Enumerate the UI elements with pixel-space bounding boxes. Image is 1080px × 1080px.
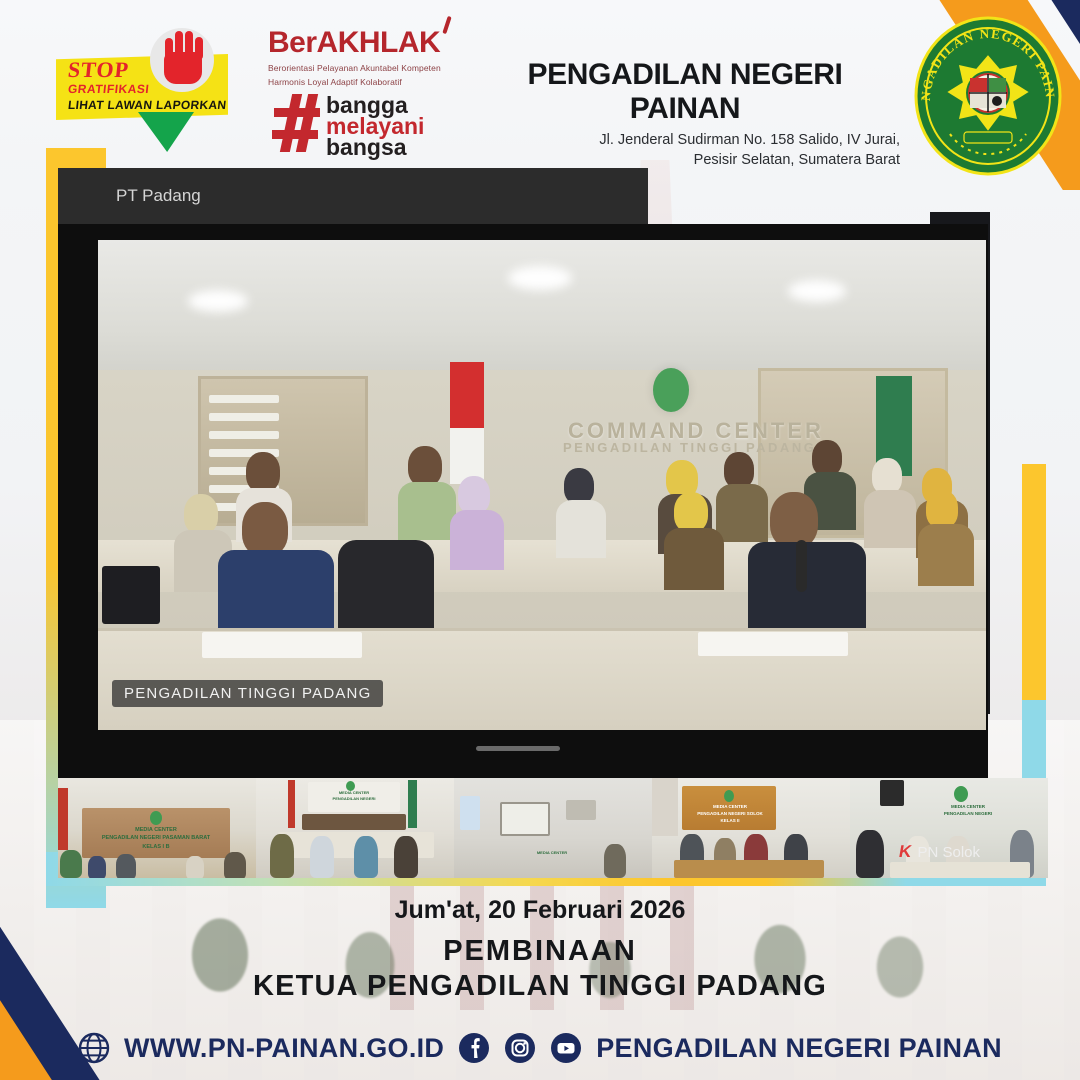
thumbnail-tile[interactable]: MEDIA CENTER [454, 778, 652, 878]
participant-thumbnail-strip: MEDIA CENTER PENGADILAN NEGERI PASAMAN B… [58, 778, 1048, 878]
footer-bar: WWW.PN-PAINAN.GO.ID PENGADILAN NEGERI PA… [0, 1016, 1080, 1080]
event-title-line-2: KETUA PENGADILAN TINGGI PADANG [0, 970, 1080, 1003]
court-seal-logo: PENGADILAN NEGERI PAINAN [908, 16, 1068, 176]
stop-word: STOP [67, 57, 131, 83]
video-scroll-handle[interactable] [476, 746, 560, 751]
berakhlak-subtitle-1: Berorientasi Pelayanan Akuntabel Kompete… [268, 62, 448, 74]
event-title-line-1: PEMBINAAN [0, 935, 1080, 968]
wall-seal-icon [653, 368, 689, 412]
website-url[interactable]: WWW.PN-PAINAN.GO.ID [124, 1033, 444, 1064]
berakhlak-logo: BerAKHLAK Berorientasi Pelayanan Akuntab… [268, 26, 448, 89]
thumb-label-line-1: MEDIA CENTER [697, 804, 763, 811]
thumb-label-line-2: PENGADILAN NEGERI [944, 811, 992, 818]
social-account-name: PENGADILAN NEGERI PAINAN [596, 1033, 1002, 1064]
event-date: Jum'at, 20 Februari 2026 [0, 896, 1080, 925]
thumb-label-line-2: PENGADILAN NEGERI [333, 796, 376, 802]
stop-subtitle-2: LIHAT LAWAN LAPORKAN [67, 98, 227, 112]
solok-participant-tag: K PN Solok [899, 842, 980, 862]
thumb-label-line-3: KELAS I B [102, 843, 210, 851]
stop-subtitle-1: GRATIFIKASI [67, 82, 150, 96]
bmb-line-3: bangsa [326, 134, 407, 161]
thumb-label-line-2: PENGADILAN NEGERI SOLOK [697, 811, 763, 818]
thumb-label-line-1: MEDIA CENTER [944, 804, 992, 811]
court-address-line-1: Jl. Jenderal Sudirman No. 158 Salido, IV… [470, 131, 900, 151]
indonesian-flag [450, 362, 484, 432]
berakhlak-title-text: BerAKHLAK [268, 26, 440, 59]
thumb-label-line-1: MEDIA CENTER [537, 850, 567, 856]
video-conference-window: PT Padang COMMAND CENTER PENGADILAN TING… [58, 168, 988, 868]
bangga-melayani-bangsa-logo: bangga melayani bangsa [272, 92, 442, 156]
event-caption: Jum'at, 20 Februari 2026 PEMBINAAN KETUA… [0, 896, 1080, 1003]
hashtag-icon [272, 94, 322, 152]
thumbnail-tile[interactable]: MEDIA CENTER PENGADILAN NEGERI [850, 778, 1048, 878]
conference-window-title: PT Padang [116, 186, 201, 206]
participant-name-badge: PENGADILAN TINGGI PADANG [112, 680, 383, 707]
youtube-icon[interactable] [550, 1032, 582, 1064]
page-title: PENGADILAN NEGERI PAINAN [470, 58, 900, 126]
thumb-label-line-2: PENGADILAN NEGERI PASAMAN BARAT [102, 834, 210, 842]
stop-hand-icon [160, 30, 206, 86]
solok-tag-label: PN Solok [917, 844, 980, 861]
berakhlak-subtitle-2: Harmonis Loyal Adaptif Kolaboratif [268, 76, 448, 88]
facebook-icon[interactable] [458, 1032, 490, 1064]
main-video-tile[interactable]: COMMAND CENTER PENGADILAN TINGGI PADANG [98, 240, 986, 730]
thumb-label-line-3: KELAS II [697, 818, 763, 825]
thumbnail-tile[interactable]: MEDIA CENTER PENGADILAN NEGERI [256, 778, 454, 878]
thumbnail-tile[interactable]: MEDIA CENTER PENGADILAN NEGERI SOLOK KEL… [652, 778, 850, 878]
thumbnail-tile[interactable]: MEDIA CENTER PENGADILAN NEGERI PASAMAN B… [58, 778, 256, 878]
thumb-label-line-1: MEDIA CENTER [102, 826, 210, 834]
instagram-icon[interactable] [504, 1032, 536, 1064]
berakhlak-title: BerAKHLAK [268, 26, 440, 60]
court-identity: PENGADILAN NEGERI PAINAN Jl. Jenderal Su… [470, 58, 900, 170]
solok-mark-icon: K [897, 842, 913, 862]
conference-title-bar: PT Padang [58, 168, 648, 224]
wall-sign-line-2: PENGADILAN TINGGI PADANG [563, 440, 816, 455]
stop-gratifikasi-logo: STOP GRATIFIKASI LIHAT LAWAN LAPORKAN [48, 24, 233, 144]
globe-icon [78, 1032, 110, 1064]
